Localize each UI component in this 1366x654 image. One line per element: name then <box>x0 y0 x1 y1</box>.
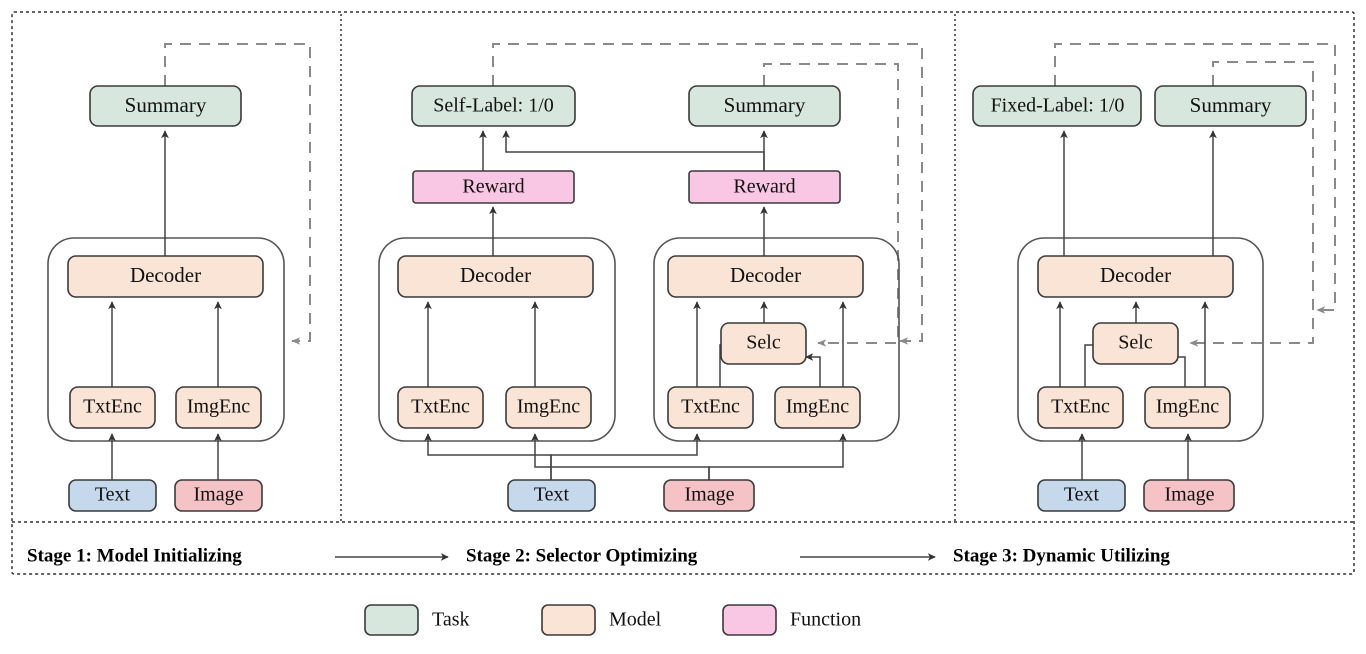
stage2-edge-imgenc-right-to-selc <box>806 357 820 387</box>
stage2-node-txtenc-right-label: TxtEnc <box>681 396 740 418</box>
stage3-node-fixed-label[interactable]: Fixed-Label: 1/0 <box>973 86 1141 126</box>
stage2-node-reward-left[interactable]: Reward <box>413 171 574 203</box>
stage2-node-txtenc-left[interactable]: TxtEnc <box>398 387 483 428</box>
stage3-node-txtenc[interactable]: TxtEnc <box>1038 387 1123 428</box>
stage2-node-summary-label: Summary <box>724 93 806 117</box>
stage2-node-selc[interactable]: Selc <box>721 323 806 364</box>
stage2-node-self-label[interactable]: Self-Label: 1/0 <box>412 86 575 126</box>
stage1-node-summary[interactable]: Summary <box>90 86 241 126</box>
stage3-node-summary-label: Summary <box>1190 93 1272 117</box>
stage1-node-text[interactable]: Text <box>69 480 156 511</box>
stage2-node-txtenc-right[interactable]: TxtEnc <box>668 387 753 428</box>
stage2-node-decoder-right[interactable]: Decoder <box>668 256 863 297</box>
stage3-node-fixed-label-label: Fixed-Label: 1/0 <box>991 95 1125 117</box>
legend-label-task: Task <box>432 609 469 631</box>
stage2-node-decoder-left-label: Decoder <box>460 263 531 287</box>
stage2-node-image[interactable]: Image <box>664 480 754 511</box>
stage1-node-summary-label: Summary <box>125 93 207 117</box>
stage2-node-imgenc-right-label: ImgEnc <box>786 396 849 418</box>
stage3-node-image-label: Image <box>1165 484 1215 506</box>
stage2-node-self-label-label: Self-Label: 1/0 <box>433 95 554 117</box>
stage2-node-imgenc-left-label: ImgEnc <box>517 396 580 418</box>
stage3-node-selc-label: Selc <box>1118 332 1153 354</box>
legend-item-model: Model <box>542 605 662 635</box>
stage3-node-txtenc-label: TxtEnc <box>1051 396 1110 418</box>
stage1-node-imgenc-label: ImgEnc <box>187 396 250 418</box>
stage1-node-decoder[interactable]: Decoder <box>68 256 263 297</box>
stage3-node-image[interactable]: Image <box>1144 480 1234 511</box>
stage1-node-txtenc[interactable]: TxtEnc <box>70 387 155 428</box>
stage2-edge-reward-right-to-self-label <box>506 131 764 171</box>
stage2-node-imgenc-right[interactable]: ImgEnc <box>775 387 860 428</box>
stage2-node-selc-label: Selc <box>746 332 781 354</box>
stage2-node-decoder-right-label: Decoder <box>730 263 801 287</box>
stage3-node-text[interactable]: Text <box>1038 480 1125 511</box>
stage-1-caption: Stage 1: Model Initializing <box>27 545 242 566</box>
stage1-node-imgenc[interactable]: ImgEnc <box>176 387 261 428</box>
stage1-node-text-label: Text <box>95 484 131 506</box>
legend-swatch-task <box>365 605 418 635</box>
stage2-node-txtenc-left-label: TxtEnc <box>411 396 470 418</box>
pipeline-diagram: Summary Decoder TxtEnc ImgEnc Text Image <box>0 0 1366 654</box>
stage1-node-decoder-label: Decoder <box>130 263 201 287</box>
stage1-node-image-label: Image <box>194 484 244 506</box>
stage3-node-selc[interactable]: Selc <box>1093 323 1178 364</box>
stage3-node-imgenc-label: ImgEnc <box>1156 396 1219 418</box>
stage2-node-summary[interactable]: Summary <box>689 86 840 126</box>
diagram-root: Summary Decoder TxtEnc ImgEnc Text Image <box>0 0 1366 654</box>
legend-item-function: Function <box>723 605 861 635</box>
stage3-node-decoder[interactable]: Decoder <box>1038 256 1233 297</box>
stage2-node-reward-right-label: Reward <box>733 176 795 198</box>
stage1-node-txtenc-label: TxtEnc <box>83 396 142 418</box>
stage2-node-decoder-left[interactable]: Decoder <box>398 256 593 297</box>
stage1-node-image[interactable]: Image <box>175 480 262 511</box>
stage2-node-reward-left-label: Reward <box>462 176 524 198</box>
legend-label-function: Function <box>790 609 861 631</box>
stage-3-caption: Stage 3: Dynamic Utilizing <box>953 545 1170 566</box>
stage2-node-text-label: Text <box>534 484 570 506</box>
legend-swatch-model <box>542 605 595 635</box>
legend-item-task: Task <box>365 605 469 635</box>
stage3-node-decoder-label: Decoder <box>1100 263 1171 287</box>
stage2-node-image-label: Image <box>685 484 735 506</box>
stage2-node-imgenc-left[interactable]: ImgEnc <box>506 387 591 428</box>
legend: Task Model Function <box>365 605 861 635</box>
stage3-node-summary[interactable]: Summary <box>1155 86 1306 126</box>
stage3-node-imgenc[interactable]: ImgEnc <box>1145 387 1230 428</box>
stage2-node-text[interactable]: Text <box>508 480 595 511</box>
stage2-node-reward-right[interactable]: Reward <box>689 171 840 203</box>
stage-2-caption: Stage 2: Selector Optimizing <box>466 545 698 566</box>
stage3-node-text-label: Text <box>1064 484 1100 506</box>
legend-label-model: Model <box>609 609 662 631</box>
legend-swatch-function <box>723 605 776 635</box>
